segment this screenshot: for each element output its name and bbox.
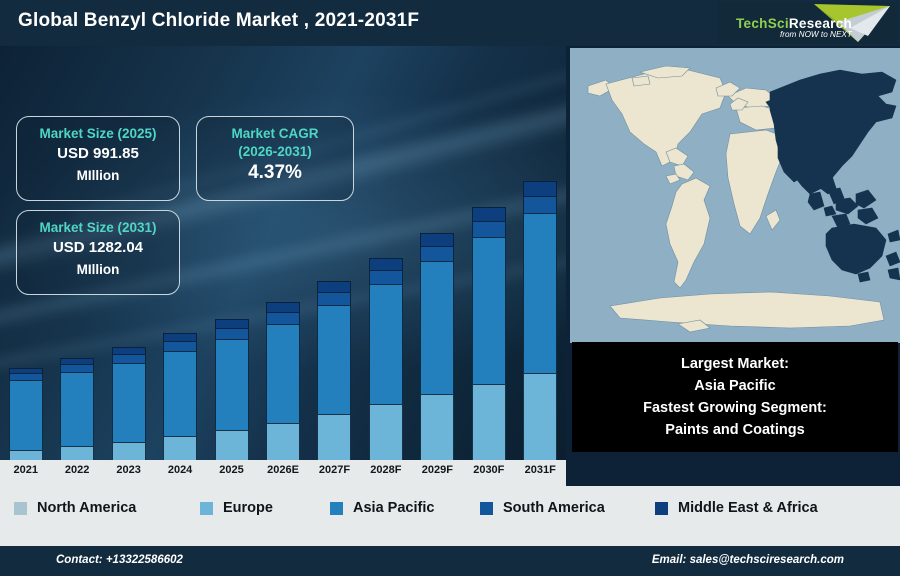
bar-segment-south-america [317,292,351,305]
bar-segment-south-america [9,373,43,380]
bar-segment-asia-pacific [112,363,146,442]
legend-swatch-icon [655,502,668,515]
bar-segment-south-america [163,341,197,351]
x-axis-tick-2023: 2023 [101,464,157,476]
legend-label: North America [37,500,136,516]
x-axis-tick-2024: 2024 [152,464,208,476]
callout-line-3: Fastest Growing Segment: [643,397,827,419]
bar-segment-south-america [472,221,506,237]
bar-segment-asia-pacific [523,213,557,373]
bar-segment-middle-east-africa [472,207,506,221]
footer-email: Email: sales@techsciresearch.com [652,554,844,566]
bar-segment-middle-east-africa [163,333,197,341]
chart-panel: Market Size (2025) USD 991.85 MIllion Ma… [0,46,566,486]
x-axis-tick-2026E: 2026E [255,464,311,476]
callout-box: Largest Market: Asia Pacific Fastest Gro… [572,342,898,452]
bar-segment-middle-east-africa [420,233,454,246]
footer-bar: Contact: +13322586602 Email: sales@techs… [0,546,900,576]
header-bar: Global Benzyl Chloride Market , 2021-203… [0,0,900,46]
bar-segment-south-america [215,328,249,339]
x-axis-tick-2030F: 2030F [461,464,517,476]
bar-segment-middle-east-africa [369,258,403,270]
bar-segment-middle-east-africa [523,181,557,196]
bar-segment-south-america [266,312,300,324]
right-panel: Largest Market: Asia Pacific Fastest Gro… [566,46,900,486]
x-axis-tick-2028F: 2028F [358,464,414,476]
bar-segment-asia-pacific [420,261,454,394]
legend-item-europe[interactable]: Europe [200,500,273,516]
bar-2027F [317,281,351,486]
legend-label: South America [503,500,605,516]
bar-segment-middle-east-africa [266,302,300,312]
bar-segment-middle-east-africa [215,319,249,328]
bar-segment-asia-pacific [317,305,351,414]
bar-segment-middle-east-africa [317,281,351,292]
bar-segment-asia-pacific [163,351,197,436]
legend-item-middle-east-africa[interactable]: Middle East & Africa [655,500,818,516]
bar-2029F [420,233,454,486]
bar-segment-south-america [112,354,146,363]
x-axis-tick-2027F: 2027F [306,464,362,476]
legend-item-asia-pacific[interactable]: Asia Pacific [330,500,434,516]
bar-segment-europe [523,373,557,464]
bar-2028F [369,258,403,486]
bar-segment-south-america [60,364,94,372]
bar-segment-asia-pacific [9,380,43,450]
bar-segment-asia-pacific [472,237,506,384]
logo-wordmark: TechSciResearch [736,16,852,31]
footer-contact: Contact: +13322586602 [56,554,183,566]
bar-segment-middle-east-africa [112,347,146,354]
legend-label: Asia Pacific [353,500,434,516]
world-map [570,48,900,343]
legend-label: Europe [223,500,273,516]
legend-swatch-icon [480,502,493,515]
bar-segment-europe [472,384,506,467]
world-map-svg [570,48,900,343]
x-axis: 202120222023202420252026E2027F2028F2029F… [0,460,566,486]
callout-line-4: Paints and Coatings [665,419,804,441]
bar-segment-south-america [420,246,454,261]
bar-segment-south-america [369,270,403,284]
bar-segment-south-america [523,196,557,213]
bar-2030F [472,207,506,486]
bar-2031F [523,181,557,486]
bar-segment-asia-pacific [266,324,300,423]
x-axis-tick-2021: 2021 [0,464,54,476]
x-axis-tick-2025: 2025 [204,464,260,476]
legend-swatch-icon [200,502,213,515]
bar-segment-asia-pacific [215,339,249,430]
chart-legend: North AmericaEuropeAsia PacificSouth Ame… [0,486,900,530]
callout-line-2: Asia Pacific [694,375,775,397]
bar-segment-europe [420,394,454,470]
x-axis-tick-2031F: 2031F [512,464,568,476]
techsci-research-logo: TechSciResearch from NOW to NEXT [718,2,898,44]
legend-item-south-america[interactable]: South America [480,500,605,516]
legend-label: Middle East & Africa [678,500,818,516]
infographic-root: Global Benzyl Chloride Market , 2021-203… [0,0,900,576]
bar-segment-asia-pacific [60,372,94,446]
page-title: Global Benzyl Chloride Market , 2021-203… [18,10,419,32]
legend-item-north-america[interactable]: North America [14,500,136,516]
callout-line-1: Largest Market: [681,353,789,375]
legend-swatch-icon [330,502,343,515]
bar-2026E [266,302,300,486]
stacked-bar-chart [0,92,566,486]
logo-tech-text: TechSci [736,16,789,31]
logo-research-text: Research [789,16,852,31]
x-axis-tick-2022: 2022 [49,464,105,476]
legend-swatch-icon [14,502,27,515]
logo-tagline: from NOW to NEXT [780,30,852,39]
x-axis-tick-2029F: 2029F [409,464,465,476]
bar-segment-asia-pacific [369,284,403,404]
